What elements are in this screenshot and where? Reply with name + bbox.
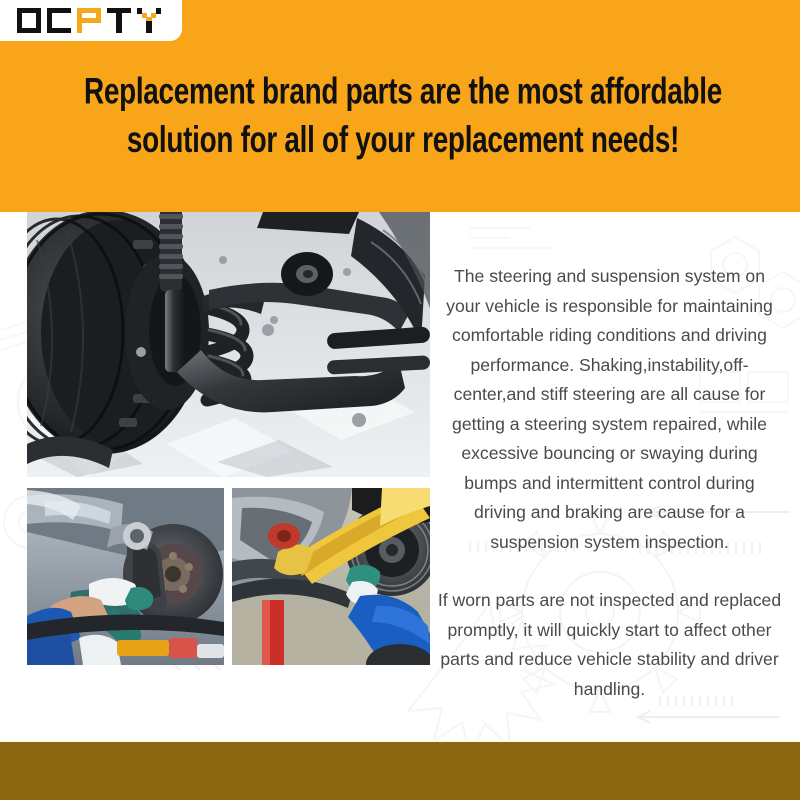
body-copy: The steering and suspension system on yo… xyxy=(437,262,782,704)
brand-logo-plate[interactable] xyxy=(0,0,182,41)
footer-banner xyxy=(0,742,800,800)
logo-letter-t xyxy=(107,8,131,33)
headline: Replacement brand parts are the most aff… xyxy=(65,68,740,166)
photo-lift-arm-service xyxy=(232,488,430,665)
headline-line-1: Replacement brand parts are the most aff… xyxy=(65,68,740,117)
body-paragraph-2: If worn parts are not inspected and repl… xyxy=(437,586,782,704)
body-paragraph-1: The steering and suspension system on yo… xyxy=(437,262,782,557)
headline-line-2: solution for all of your replacement nee… xyxy=(65,117,740,166)
photo-brake-hub-service xyxy=(27,488,224,665)
logo-letter-c xyxy=(47,8,71,33)
logo-letter-p xyxy=(77,8,101,33)
logo-letter-y xyxy=(137,8,161,33)
photo-suspension-assembly xyxy=(27,212,430,477)
logo-letter-o xyxy=(17,8,41,33)
ocpty-logo-icon xyxy=(17,8,161,33)
